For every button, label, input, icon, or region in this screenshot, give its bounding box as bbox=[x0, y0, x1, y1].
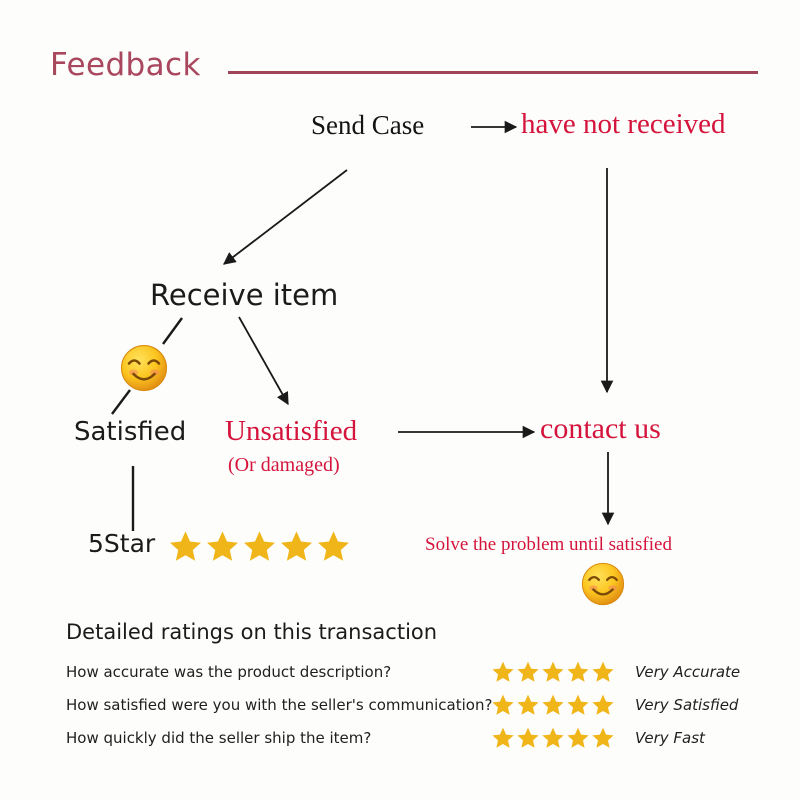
star-icon bbox=[541, 726, 565, 750]
node-solve-the-problem: Solve the problem until satisfied bbox=[425, 535, 672, 554]
detailed-ratings-panel: Detailed ratings on this transaction How… bbox=[66, 620, 766, 757]
node-contact-us: contact us bbox=[540, 414, 661, 444]
header: Feedback bbox=[0, 46, 800, 96]
line-smiley-to-satisfied bbox=[112, 390, 130, 414]
rating-row: How satisfied were you with the seller's… bbox=[66, 691, 766, 719]
rating-label: Very Fast bbox=[621, 729, 705, 747]
star-icon bbox=[491, 693, 515, 717]
rating-stars bbox=[491, 693, 621, 717]
ratings-row-list: How accurate was the product description… bbox=[66, 658, 766, 752]
star-icon bbox=[205, 529, 240, 564]
star-icon bbox=[316, 529, 351, 564]
star-icon bbox=[516, 726, 540, 750]
star-icon bbox=[566, 693, 590, 717]
line-receiveitem-to-smiley bbox=[163, 318, 182, 344]
star-icon bbox=[242, 529, 277, 564]
arrow-receiveitem-to-unsatisfied bbox=[239, 317, 288, 404]
star-icon bbox=[516, 660, 540, 684]
arrow-sendcase-to-receiveitem bbox=[224, 170, 347, 264]
node-satisfied: Satisfied bbox=[74, 419, 186, 445]
node-receive-item: Receive item bbox=[150, 281, 338, 310]
title-divider bbox=[228, 71, 758, 74]
star-icon bbox=[591, 693, 615, 717]
node-5star-label: 5Star bbox=[88, 531, 155, 556]
five-star-rating bbox=[168, 529, 353, 564]
star-icon bbox=[168, 529, 203, 564]
rating-label: Very Accurate bbox=[621, 663, 740, 681]
star-icon bbox=[591, 726, 615, 750]
rating-question: How quickly did the seller ship the item… bbox=[66, 729, 491, 747]
star-icon bbox=[566, 726, 590, 750]
rating-row: How accurate was the product description… bbox=[66, 658, 766, 686]
star-icon bbox=[491, 726, 515, 750]
rating-question: How accurate was the product description… bbox=[66, 663, 491, 681]
star-icon bbox=[541, 660, 565, 684]
smiley-face-icon bbox=[120, 344, 168, 392]
star-icon bbox=[566, 660, 590, 684]
node-send-case: Send Case bbox=[311, 112, 424, 139]
smiley-face-icon bbox=[581, 562, 625, 606]
star-icon bbox=[279, 529, 314, 564]
rating-stars bbox=[491, 726, 621, 750]
rating-label: Very Satisfied bbox=[621, 696, 738, 714]
star-icon bbox=[516, 693, 540, 717]
rating-question: How satisfied were you with the seller's… bbox=[66, 696, 491, 714]
feedback-infographic: Feedback Send Case have not received Rec… bbox=[0, 0, 800, 800]
rating-row: How quickly did the seller ship the item… bbox=[66, 724, 766, 752]
star-icon bbox=[541, 693, 565, 717]
node-have-not-received: have not received bbox=[521, 110, 726, 139]
node-or-damaged: (Or damaged) bbox=[228, 455, 340, 475]
rating-stars bbox=[491, 660, 621, 684]
ratings-heading: Detailed ratings on this transaction bbox=[66, 620, 766, 644]
star-icon bbox=[591, 660, 615, 684]
node-unsatisfied: Unsatisfied bbox=[225, 417, 357, 446]
star-icon bbox=[491, 660, 515, 684]
page-title: Feedback bbox=[50, 46, 201, 84]
